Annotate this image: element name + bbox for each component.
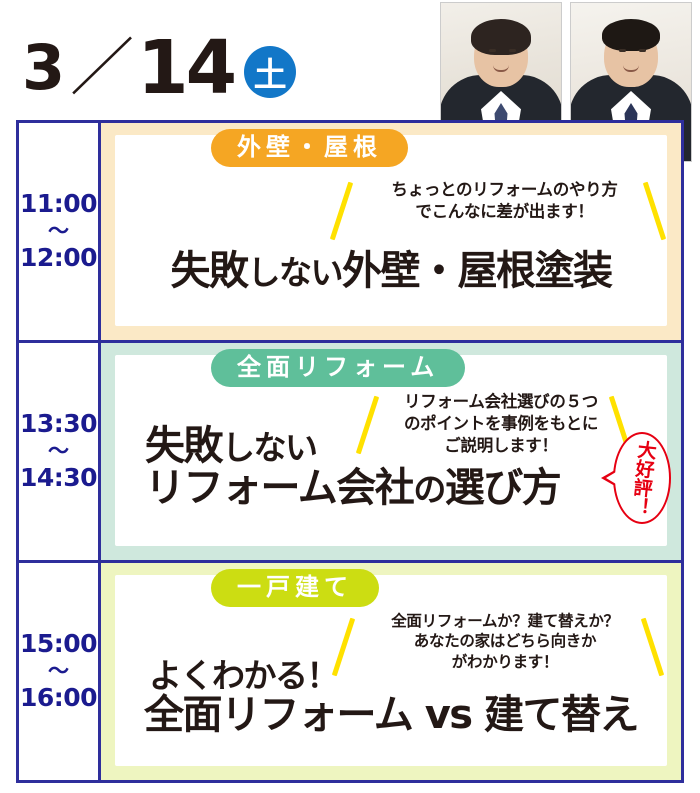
description-line: あなたの家はどちら向きか	[353, 631, 657, 651]
schedule-row[interactable]: 15:00 〜 16:00 一戸建て 全面リフォームか？建て替えか？ あなたの家…	[19, 563, 681, 780]
session-content: 外壁・屋根 ちょっとのリフォームのやり方 でこんなに差が出ます！ 失敗しない外壁…	[101, 123, 681, 340]
day-of-week-badge: 土	[244, 46, 296, 98]
yellow-slash-left	[330, 182, 353, 241]
stamp-label: 大好評！	[608, 429, 675, 527]
time-end: 14:30	[20, 464, 97, 493]
title-line: リフォーム会社の選び方	[145, 467, 667, 509]
session-title: 失敗しない リフォーム会社の選び方	[115, 425, 667, 510]
title-line: 失敗しない外壁・屋根塗装	[115, 250, 667, 292]
date-month: 3	[22, 37, 63, 99]
session-title: よくわかる！ 全面リフォーム vs 建て替え	[115, 659, 667, 736]
date-separator: ／	[70, 37, 134, 99]
title-part: よくわかる！	[149, 656, 338, 695]
session-content: 全面リフォーム リフォーム会社選びの５つ のポイントを事例をもとに ご説明します…	[101, 343, 681, 560]
title-part: しない	[222, 428, 317, 467]
time-end: 16:00	[20, 684, 97, 713]
time-cell: 13:30 〜 14:30	[19, 343, 101, 560]
photo-hair	[471, 19, 531, 55]
time-separator: 〜	[48, 221, 69, 242]
title-line: 失敗しない	[145, 425, 667, 467]
photo-eye-left	[619, 49, 626, 52]
title-part: 外壁・屋根塗装	[342, 248, 612, 294]
category-badge: 外壁・屋根	[211, 129, 408, 167]
date-header: 3 ／ 14 土	[22, 28, 296, 108]
schedule-row[interactable]: 13:30 〜 14:30 全面リフォーム リフォーム会社選びの５つ のポイント…	[19, 343, 681, 563]
session-card: 全面リフォーム リフォーム会社選びの５つ のポイントを事例をもとに ご説明します…	[115, 355, 667, 546]
schedule-row[interactable]: 11:00 〜 12:00 外壁・屋根 ちょっとのリフォームのやり方 でこんなに…	[19, 123, 681, 343]
session-card: 外壁・屋根 ちょっとのリフォームのやり方 でこんなに差が出ます！ 失敗しない外壁…	[115, 135, 667, 326]
title-line: よくわかる！	[115, 659, 667, 694]
photo-eye-right	[639, 49, 646, 52]
photo-eye-right	[509, 49, 516, 52]
title-part: 選び方	[445, 465, 561, 511]
session-description: ちょっとのリフォームのやり方 でこんなに差が出ます！	[360, 179, 649, 223]
category-badge: 一戸建て	[211, 569, 379, 607]
description-line: 全面リフォームか？建て替えか？	[353, 611, 657, 631]
time-separator: 〜	[48, 441, 69, 462]
time-end: 12:00	[20, 244, 97, 273]
title-part: の	[413, 470, 445, 509]
schedule-table: 11:00 〜 12:00 外壁・屋根 ちょっとのリフォームのやり方 でこんなに…	[16, 120, 684, 783]
title-part: 失敗	[171, 248, 248, 294]
time-cell: 11:00 〜 12:00	[19, 123, 101, 340]
time-separator: 〜	[48, 661, 69, 682]
title-part: しない	[248, 253, 343, 292]
time-start: 13:30	[20, 410, 97, 439]
time-start: 15:00	[20, 630, 97, 659]
category-badge: 全面リフォーム	[211, 349, 465, 387]
description-line: リフォーム会社選びの５つ	[377, 391, 625, 413]
session-content: 一戸建て 全面リフォームか？建て替えか？ あなたの家はどちら向きか がわかります…	[101, 563, 681, 780]
photo-hair	[602, 19, 660, 51]
popular-stamp: 大好評！	[613, 432, 671, 524]
time-cell: 15:00 〜 16:00	[19, 563, 101, 780]
description-line: ちょっとのリフォームのやり方	[360, 179, 649, 201]
description-line: でこんなに差が出ます！	[360, 201, 649, 223]
title-line: 全面リフォーム vs 建て替え	[115, 694, 667, 736]
date-day: 14	[137, 31, 234, 105]
title-part: 全面リフォーム vs 建て替え	[144, 692, 638, 738]
time-start: 11:00	[20, 190, 97, 219]
session-title: 失敗しない外壁・屋根塗装	[115, 250, 667, 292]
photo-eye-left	[489, 49, 496, 52]
title-part: 失敗	[145, 423, 222, 469]
title-part: リフォーム会社	[145, 465, 413, 511]
session-card: 一戸建て 全面リフォームか？建て替えか？ あなたの家はどちら向きか がわかります…	[115, 575, 667, 766]
